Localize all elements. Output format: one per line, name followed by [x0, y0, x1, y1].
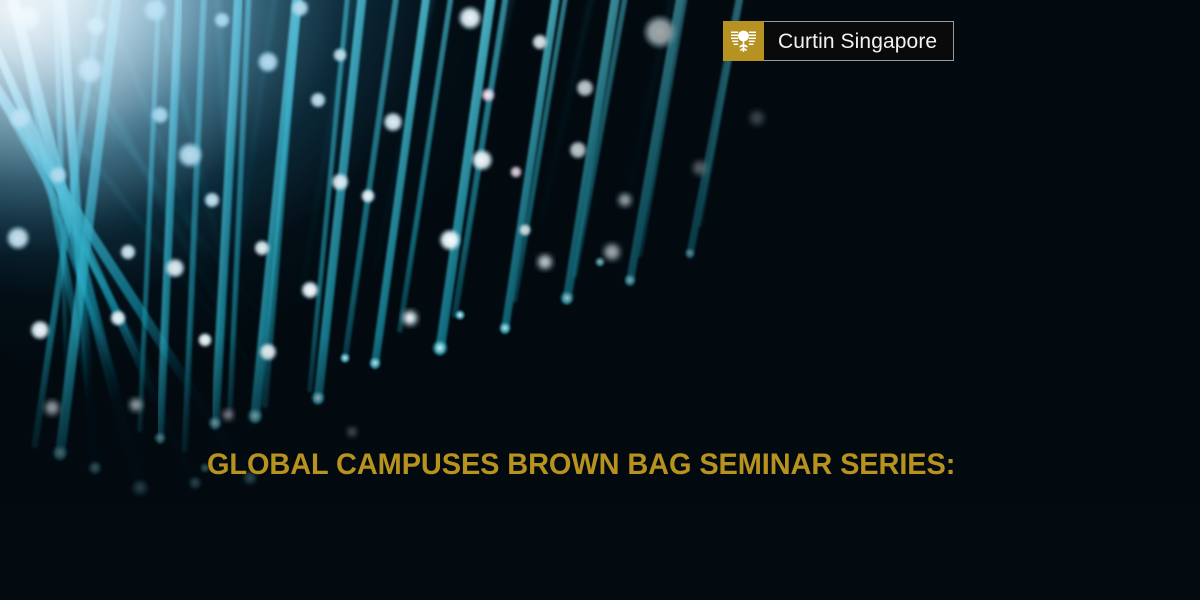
curtin-singapore-logo: Curtin Singapore — [723, 21, 954, 61]
curtin-crest-icon — [723, 21, 764, 61]
fiber-optic-background-image — [0, 0, 1200, 600]
brand-name-box: Curtin Singapore — [764, 21, 954, 61]
brand-name-label: Curtin Singapore — [778, 31, 937, 52]
presentation-slide: Curtin Singapore GLOBAL CAMPUSES BROWN B… — [0, 0, 1200, 600]
page-title: GLOBAL CAMPUSES BROWN BAG SEMINAR SERIES… — [207, 449, 955, 481]
fiber-strands-graphic — [0, 0, 1200, 600]
